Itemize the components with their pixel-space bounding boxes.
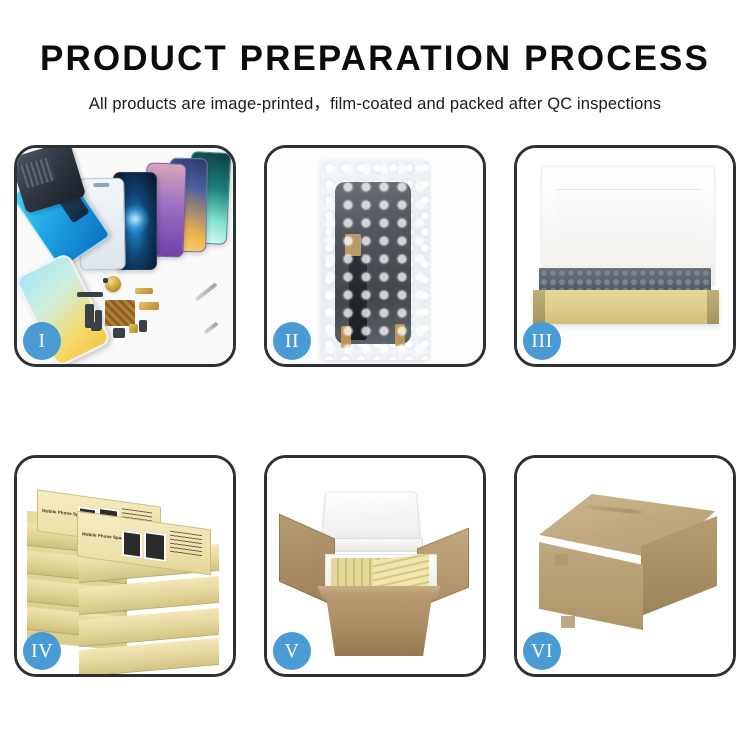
small-part-3 — [129, 324, 138, 333]
box-window-4 — [144, 531, 166, 562]
process-panel-5[interactable]: V — [264, 455, 486, 677]
page-header: PRODUCT PREPARATION PROCESS All products… — [0, 0, 750, 114]
panel-badge-1: I — [23, 322, 61, 360]
panel-badge-4: IV — [23, 632, 61, 670]
process-panel-grid: I II III — [14, 145, 736, 677]
carton-body — [321, 594, 437, 656]
bubble-wrap-bag — [321, 160, 429, 360]
kraft-box-tray — [533, 290, 719, 324]
small-part-4 — [139, 320, 147, 332]
box-window-3 — [122, 530, 142, 559]
process-panel-6[interactable]: VI — [514, 455, 736, 677]
photo-carton-with-styrofoam-liner: V — [267, 458, 483, 674]
process-panel-1[interactable]: I — [14, 145, 236, 367]
photo-sealed-shipping-carton: VI — [517, 458, 733, 674]
connector-left — [341, 326, 351, 348]
flex-cable-1 — [77, 292, 103, 297]
photo-bubble-wrapped-screen: II — [267, 148, 483, 364]
carton-tape-upper — [555, 554, 568, 566]
panel-badge-3: III — [523, 322, 561, 360]
connector-2 — [139, 302, 159, 310]
flex-cable-tail — [349, 256, 367, 340]
photo-phone-screens-and-parts: I — [17, 148, 233, 364]
panel-badge-5: V — [273, 632, 311, 670]
page-subtitle: All products are image-printed，film-coat… — [0, 76, 750, 114]
photo-open-kraft-box-with-foam: III — [517, 148, 733, 364]
small-part-1 — [91, 322, 101, 331]
panel-badge-6: VI — [523, 632, 561, 670]
page-title: PRODUCT PREPARATION PROCESS — [0, 0, 750, 76]
small-part-5 — [103, 278, 108, 283]
process-panel-2[interactable]: II — [264, 145, 486, 367]
process-panel-4[interactable]: Mobile Phone Spare Parts Mobile Phone Sp… — [14, 455, 236, 677]
lcd-assembly — [335, 182, 411, 344]
process-panel-3[interactable]: III — [514, 145, 736, 367]
connector-right — [395, 324, 405, 346]
connector-1 — [135, 288, 153, 294]
logic-board — [105, 300, 135, 326]
panel-badge-2: II — [273, 322, 311, 360]
photo-stacked-spare-part-boxes: Mobile Phone Spare Parts Mobile Phone Sp… — [17, 458, 233, 674]
carton-tape-lower — [561, 616, 575, 628]
box-spec-lines-2 — [170, 531, 202, 559]
small-part-2 — [113, 328, 125, 338]
